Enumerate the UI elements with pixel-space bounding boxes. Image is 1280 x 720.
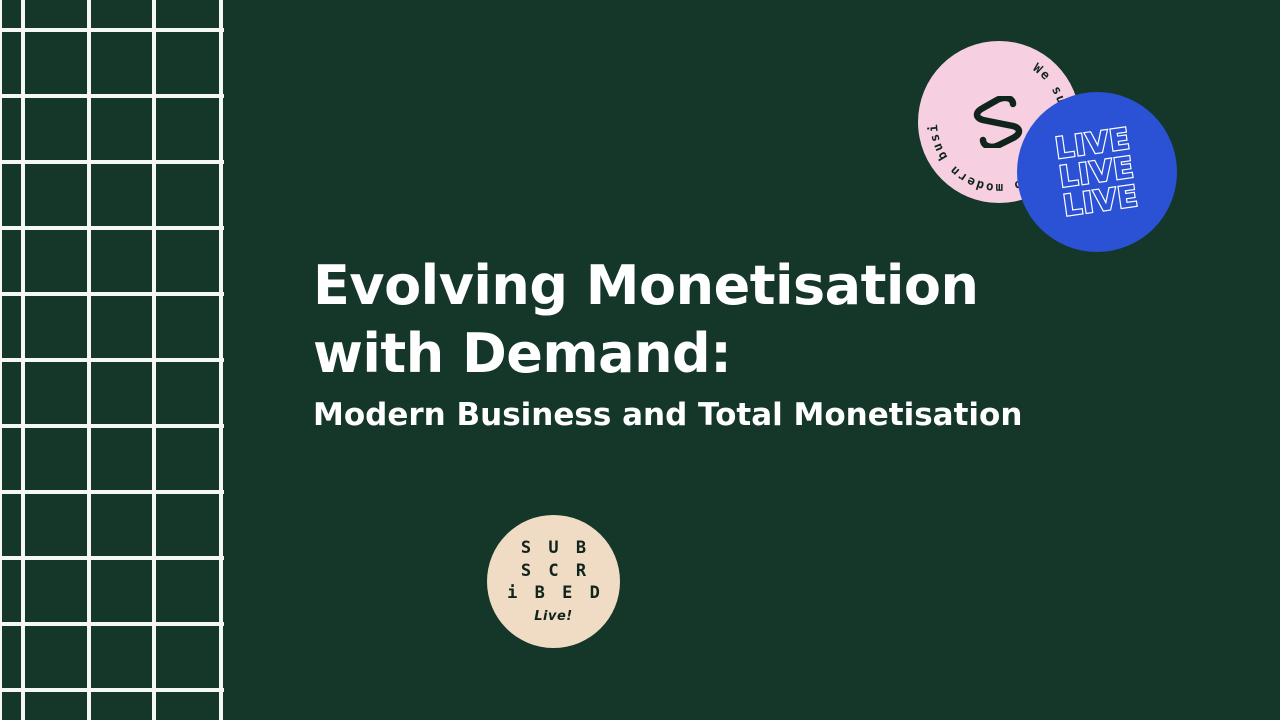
subscribed-line-3: i B E D	[504, 584, 604, 604]
subscribed-footer: Live!	[534, 609, 572, 624]
live-stack: LIVE LIVE LIVE	[1054, 124, 1141, 220]
page-title: Evolving Monetisation with Demand:	[313, 252, 1133, 387]
live-badge: LIVE LIVE LIVE	[1017, 92, 1177, 252]
slide-canvas: Evolving Monetisation with Demand: Moder…	[0, 0, 1280, 720]
zigzag-s-logo-icon	[969, 96, 1029, 148]
subscribed-line-2: S C R	[517, 562, 589, 582]
title-block: Evolving Monetisation with Demand: Moder…	[313, 252, 1133, 435]
subscribed-badge: S U B S C R i B E D Live!	[487, 515, 620, 648]
page-subtitle: Modern Business and Total Monetisation	[313, 395, 1133, 435]
subscribed-line-1: S U B	[517, 539, 589, 559]
left-grid-pattern	[0, 0, 224, 720]
live-word-3: LIVE	[1062, 182, 1141, 220]
